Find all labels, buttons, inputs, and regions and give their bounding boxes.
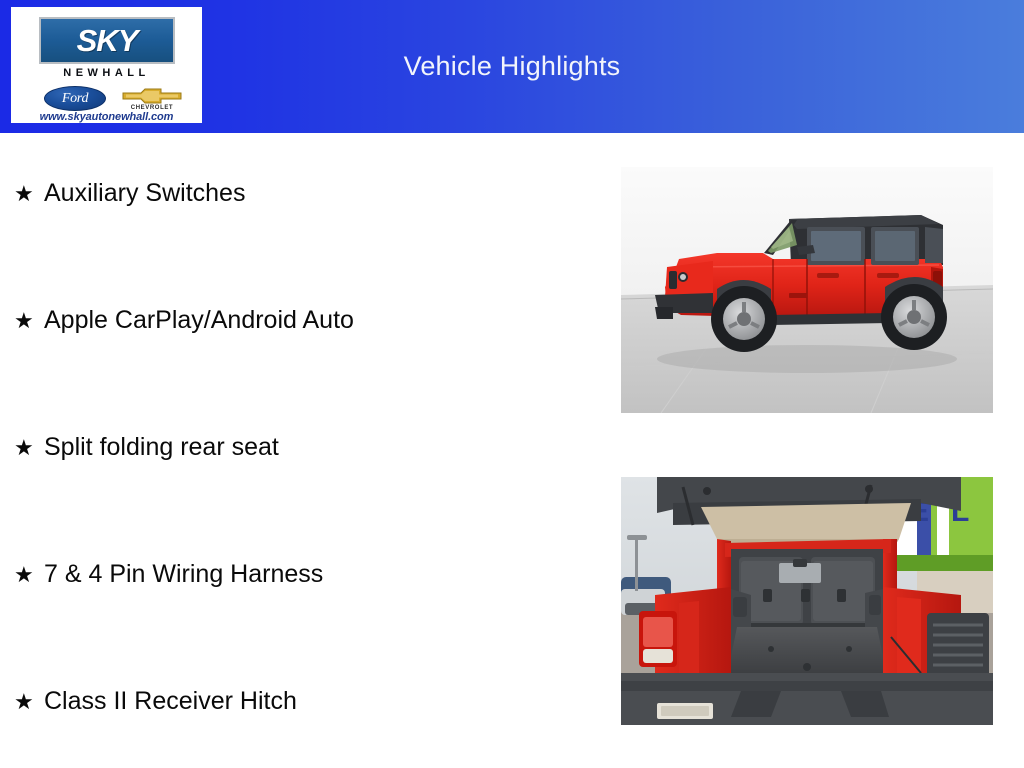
highlight-label: Auxiliary Switches	[44, 181, 245, 206]
sky-brand-text: SKY	[41, 19, 173, 62]
list-item: ★ Class II Receiver Hitch	[14, 689, 297, 714]
page-header: Vehicle Highlights SKY NEWHALL Ford CHEV…	[0, 0, 1024, 133]
star-bullet-icon: ★	[14, 437, 44, 459]
dealer-logo[interactable]: SKY NEWHALL Ford CHEVROLET www.skyautone…	[11, 7, 202, 123]
list-item: ★ Split folding rear seat	[14, 435, 279, 460]
dealer-website-url[interactable]: www.skyautonewhall.com	[11, 111, 202, 123]
list-item: ★ 7 & 4 Pin Wiring Harness	[14, 562, 323, 587]
ford-logo-icon: Ford	[44, 86, 106, 111]
star-bullet-icon: ★	[14, 183, 44, 205]
ford-logo-text: Ford	[45, 87, 105, 110]
vehicle-highlights-list: ★ Auxiliary Switches ★ Apple CarPlay/And…	[0, 133, 600, 768]
chevrolet-logo-icon: CHEVROLET	[121, 87, 183, 113]
highlight-label: Split folding rear seat	[44, 435, 279, 460]
star-bullet-icon: ★	[14, 564, 44, 586]
vehicle-cargo-photo: E L	[621, 477, 993, 725]
highlight-label: Apple CarPlay/Android Auto	[44, 308, 354, 333]
sky-brand-plate: SKY	[39, 17, 175, 64]
chevrolet-bowtie-shape	[121, 87, 183, 105]
dealer-logo-inner: SKY NEWHALL Ford CHEVROLET www.skyautone…	[11, 7, 202, 123]
vehicle-exterior-photo	[621, 167, 993, 413]
star-bullet-icon: ★	[14, 310, 44, 332]
star-bullet-icon: ★	[14, 691, 44, 713]
list-item: ★ Apple CarPlay/Android Auto	[14, 308, 354, 333]
highlight-label: Class II Receiver Hitch	[44, 689, 297, 714]
dealer-location-text: NEWHALL	[11, 67, 202, 79]
highlight-label: 7 & 4 Pin Wiring Harness	[44, 562, 323, 587]
list-item: ★ Auxiliary Switches	[14, 181, 245, 206]
